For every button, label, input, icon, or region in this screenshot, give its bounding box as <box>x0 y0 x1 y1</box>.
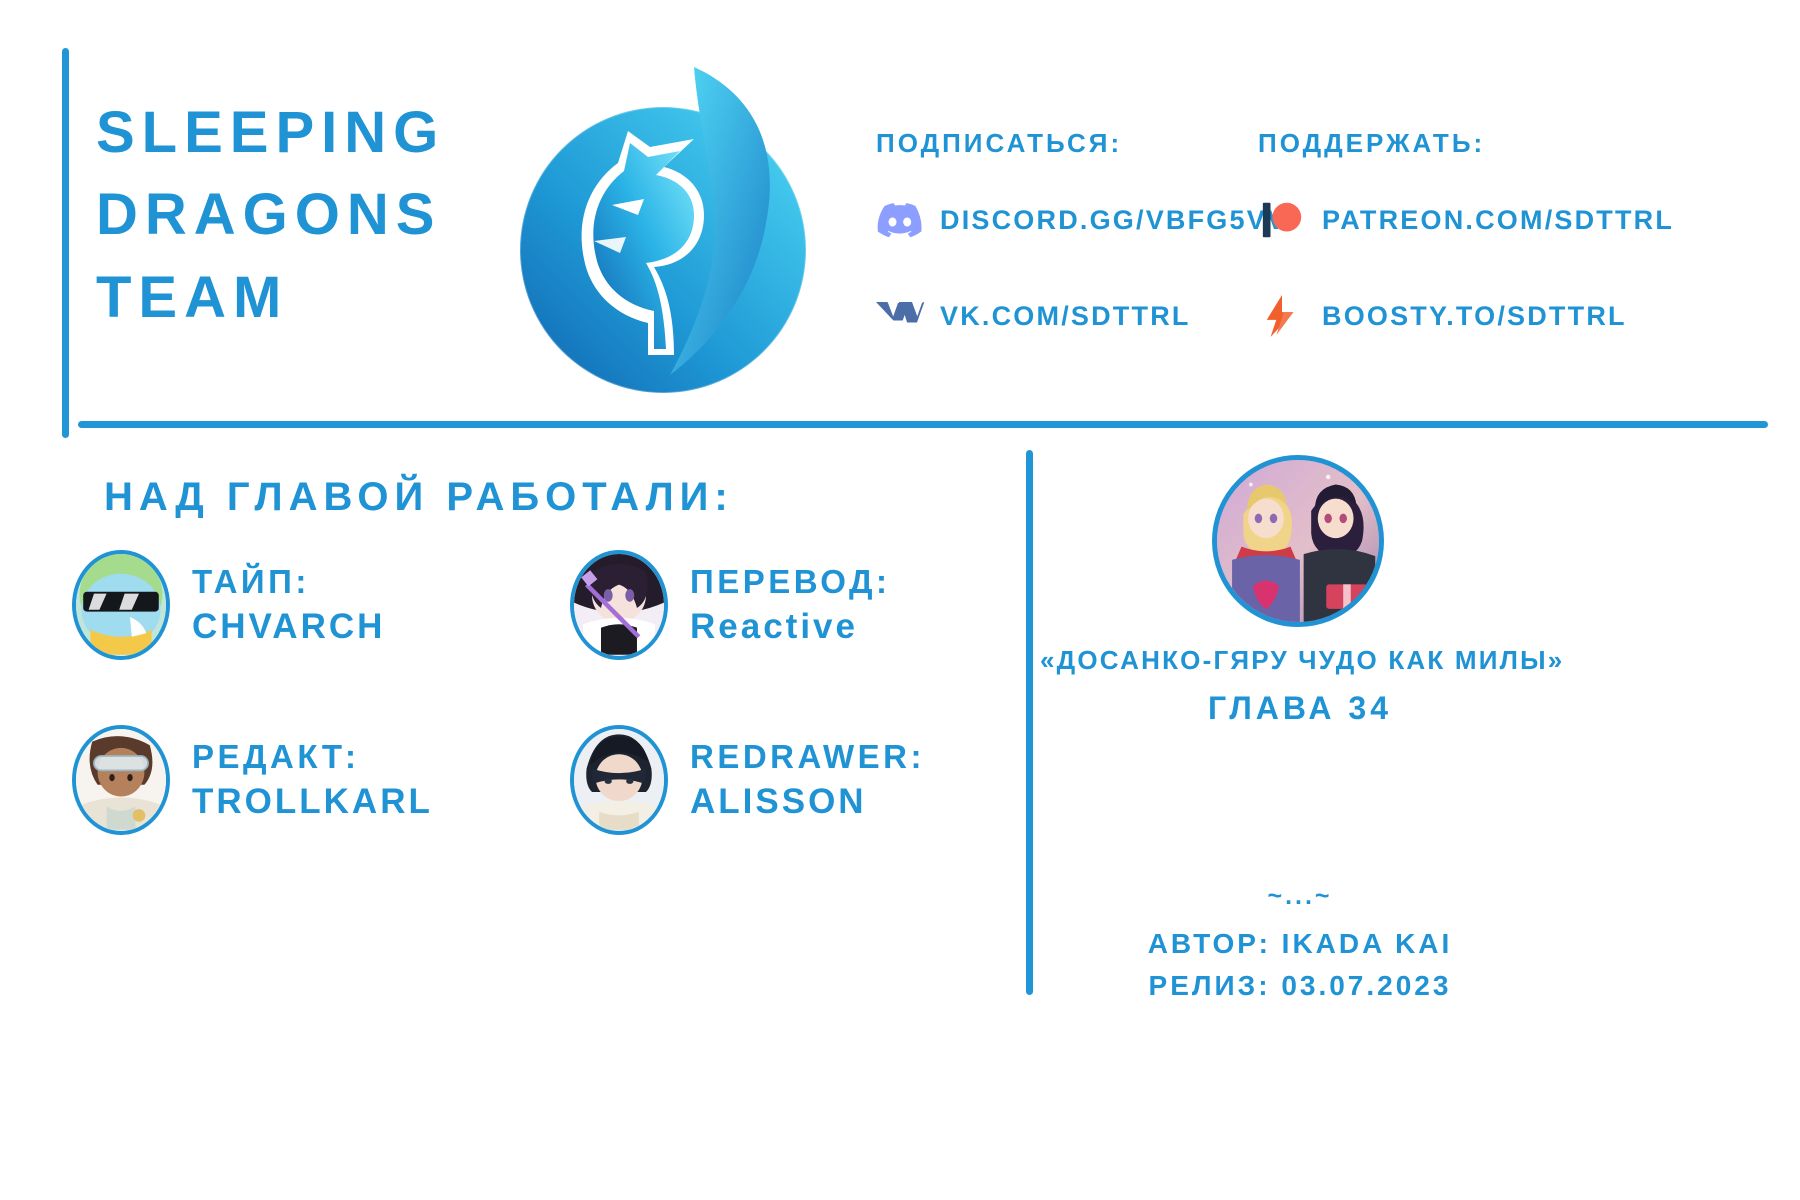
series-title: «ДОСАНКО-ГЯРУ ЧУДО КАК МИЛЫ» <box>1040 645 1560 676</box>
series-cover-thumbnail <box>1212 455 1384 627</box>
credit-role: ПЕРЕВОД: <box>690 560 891 604</box>
credit-entry-translator: ПЕРЕВОД: Reactive <box>570 550 891 660</box>
credit-nick: TROLLKARL <box>192 779 433 825</box>
credits-page: SLEEPING DRAGONS TEAM <box>0 0 1800 1200</box>
credit-nick: CHVARCH <box>192 604 385 650</box>
credit-entry-redrawer: REDRAWER: ALISSON <box>570 725 925 835</box>
avatar <box>72 725 170 835</box>
team-title-line-3: TEAM <box>96 257 516 339</box>
credit-role: РЕДАКТ: <box>192 735 433 779</box>
avatar <box>570 550 668 660</box>
release-panel: «ДОСАНКО-ГЯРУ ЧУДО КАК МИЛЫ» ГЛАВА 34 ~.… <box>1040 450 1800 1010</box>
subscribe-column: ПОДПИСАТЬСЯ: DISCORD.GG/VBFG5VV <box>876 128 1216 381</box>
release-date-label: РЕЛИЗ: 03.07.2023 <box>1040 970 1560 1002</box>
boosty-link[interactable]: BOOSTY.TO/SDTTRL <box>1258 285 1800 347</box>
credit-role: REDRAWER: <box>690 735 925 779</box>
dragon-emblem-icon <box>498 55 828 395</box>
credit-entry-editor: РЕДАКТ: TROLLKARL <box>72 725 433 835</box>
boosty-url-label: BOOSTY.TO/SDTTRL <box>1322 301 1627 332</box>
support-column: ПОДДЕРЖАТЬ: PATREON.COM/SDTTRL <box>1258 128 1800 381</box>
page-header: SLEEPING DRAGONS TEAM <box>0 0 1800 480</box>
vk-link[interactable]: VK.COM/SDTTRL <box>876 285 1216 347</box>
subscribe-heading: ПОДПИСАТЬСЯ: <box>876 128 1216 159</box>
credit-entry-typesetter: ТАЙП: CHVARCH <box>72 550 385 660</box>
support-heading: ПОДДЕРЖАТЬ: <box>1258 128 1800 159</box>
decorative-separator: ~...~ <box>1040 882 1560 911</box>
discord-icon <box>876 196 924 244</box>
vk-icon <box>876 292 924 340</box>
avatar <box>72 550 170 660</box>
credits-heading: НАД ГЛАВОЙ РАБОТАЛИ: <box>104 475 734 520</box>
team-title: SLEEPING DRAGONS TEAM <box>96 92 516 339</box>
vk-url-label: VK.COM/SDTTRL <box>940 301 1191 332</box>
team-title-line-2: DRAGONS <box>96 174 516 256</box>
patreon-link[interactable]: PATREON.COM/SDTTRL <box>1258 189 1800 251</box>
patreon-icon <box>1258 196 1306 244</box>
avatar <box>570 725 668 835</box>
credit-nick: ALISSON <box>690 779 925 825</box>
discord-link[interactable]: DISCORD.GG/VBFG5VV <box>876 189 1216 251</box>
credits-section: НАД ГЛАВОЙ РАБОТАЛИ: ТАЙП: CHVARCH <box>0 450 1020 1010</box>
team-title-line-1: SLEEPING <box>96 92 516 174</box>
header-divider <box>78 421 1768 428</box>
boosty-icon <box>1258 292 1306 340</box>
section-divider <box>1026 450 1033 995</box>
discord-url-label: DISCORD.GG/VBFG5VV <box>940 205 1287 236</box>
credit-role: ТАЙП: <box>192 560 385 604</box>
title-accent-bar <box>62 48 69 438</box>
patreon-url-label: PATREON.COM/SDTTRL <box>1322 205 1674 236</box>
credit-nick: Reactive <box>690 604 891 650</box>
author-label: АВТОР: IKADA KAI <box>1040 928 1560 960</box>
chapter-label: ГЛАВА 34 <box>1040 690 1560 727</box>
